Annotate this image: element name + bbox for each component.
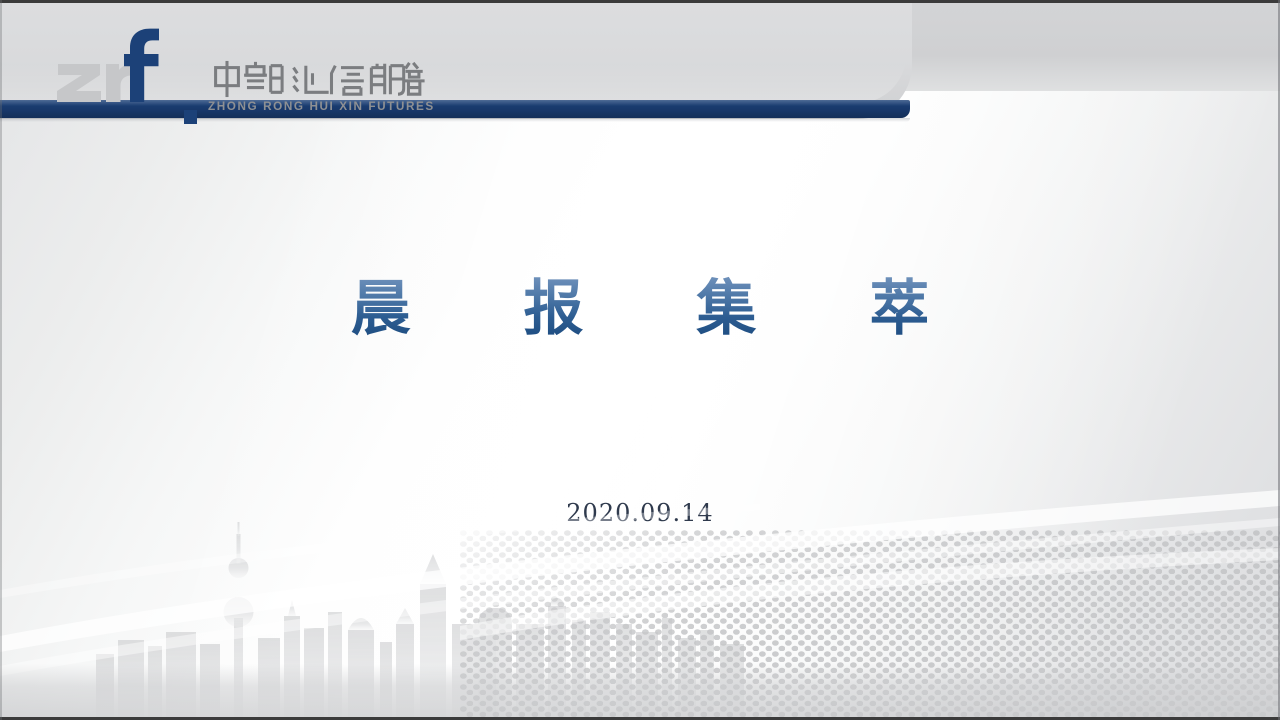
slide-date: 2020.09.14: [0, 499, 1280, 527]
company-name-cn-icon: [208, 60, 425, 98]
zrf-logo-icon: [56, 28, 160, 104]
presentation-slide: ZHONG RONG HUI XIN FUTURES 晨 报 集 萃 2020.…: [0, 0, 1280, 720]
header-band-right: [890, 3, 1280, 91]
logo-divider: [184, 110, 197, 124]
company-name-en: ZHONG RONG HUI XIN FUTURES: [208, 101, 443, 113]
navy-bar-shadow: [0, 118, 910, 122]
company-logo: ZHONG RONG HUI XIN FUTURES: [56, 28, 160, 104]
logo-wordmark: ZHONG RONG HUI XIN FUTURES: [208, 60, 438, 113]
slide-left-border: [0, 0, 2, 720]
slide-top-border: [0, 0, 1280, 3]
page-title: 晨 报 集 萃: [0, 276, 1280, 342]
